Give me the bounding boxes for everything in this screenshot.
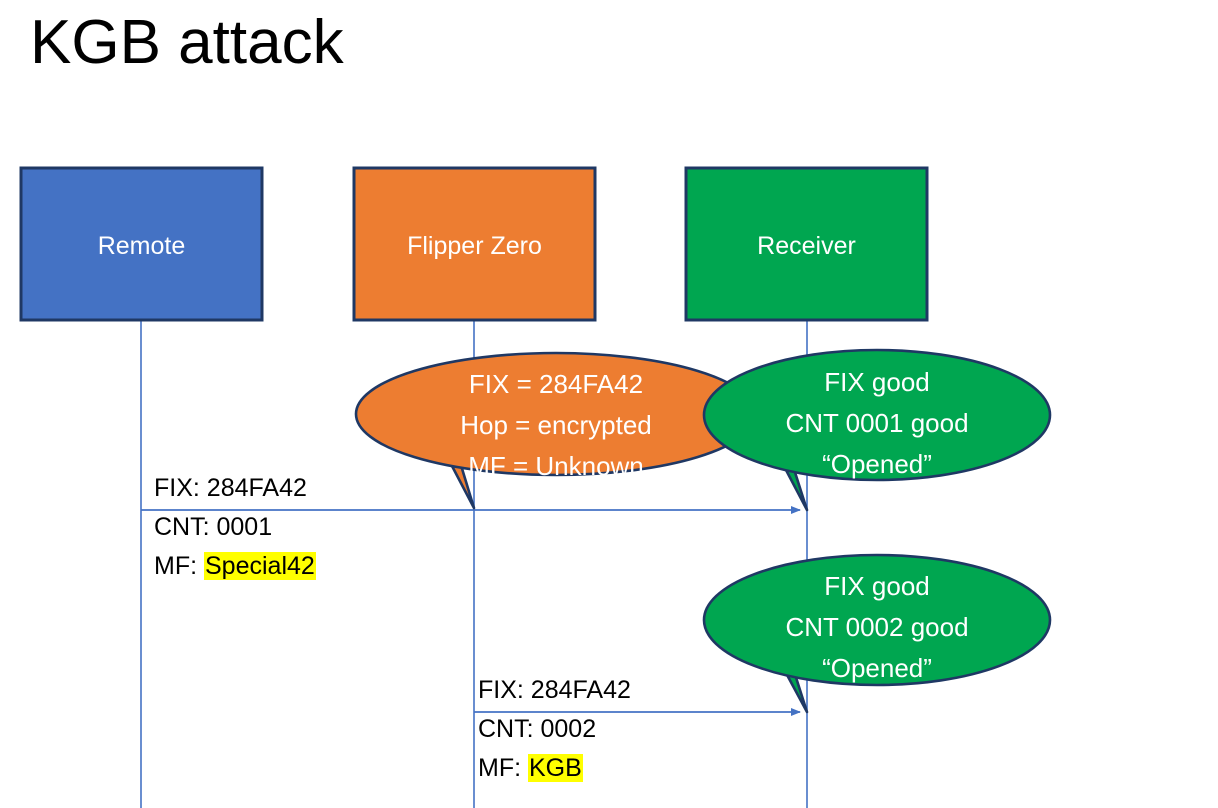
actor-label-remote: Remote	[21, 232, 262, 261]
callout-receiver-2-line-1: FIX good	[704, 566, 1050, 607]
callout-flipper-line-2: Hop = encrypted	[356, 405, 756, 446]
message-label-2-value-3: KGB	[528, 754, 583, 782]
message-label-2-prefix-1: FIX:	[478, 676, 531, 704]
message-label-1-line-3: MF: Special42	[154, 547, 316, 586]
actor-label-flipper: Flipper Zero	[354, 232, 595, 261]
message-label-2-value-2: 0002	[541, 715, 597, 743]
message-label-1-line-2: CNT: 0001	[154, 508, 316, 547]
callout-receiver-2-line-3: “Opened”	[704, 648, 1050, 689]
message-label-1-value-2: 0001	[217, 513, 273, 541]
message-label-1-prefix-3: MF:	[154, 552, 204, 580]
callout-receiver-1-line-2: CNT 0001 good	[704, 403, 1050, 444]
message-label-1-line-1: FIX: 284FA42	[154, 469, 316, 508]
callout-flipper-line-1: FIX = 284FA42	[356, 364, 756, 405]
callout-receiver-1-text: FIX good CNT 0001 good “Opened”	[704, 362, 1050, 485]
callout-flipper-text: FIX = 284FA42 Hop = encrypted MF = Unkno…	[356, 364, 756, 487]
message-label-2-prefix-2: CNT:	[478, 715, 541, 743]
message-label-2-line-2: CNT: 0002	[478, 710, 631, 749]
message-label-2-value-1: 284FA42	[531, 676, 631, 704]
message-label-2-line-3: MF: KGB	[478, 749, 631, 788]
message-label-1-value-3: Special42	[204, 552, 316, 580]
callout-receiver-1-line-1: FIX good	[704, 362, 1050, 403]
message-label-1-prefix-1: FIX:	[154, 474, 207, 502]
actor-label-receiver: Receiver	[686, 232, 927, 261]
message-label-1-prefix-2: CNT:	[154, 513, 217, 541]
message-label-2-line-1: FIX: 284FA42	[478, 671, 631, 710]
message-label-2-prefix-3: MF:	[478, 754, 528, 782]
callout-receiver-1-line-3: “Opened”	[704, 444, 1050, 485]
slide-canvas: KGB attack	[0, 0, 1218, 808]
callout-flipper-line-3: MF = Unknown	[356, 446, 756, 487]
callout-receiver-2-text: FIX good CNT 0002 good “Opened”	[704, 566, 1050, 689]
callout-receiver-2-line-2: CNT 0002 good	[704, 607, 1050, 648]
message-label-1-value-1: 284FA42	[207, 474, 307, 502]
message-label-2: FIX: 284FA42 CNT: 0002 MF: KGB	[478, 671, 631, 788]
message-label-1: FIX: 284FA42 CNT: 0001 MF: Special42	[154, 469, 316, 586]
